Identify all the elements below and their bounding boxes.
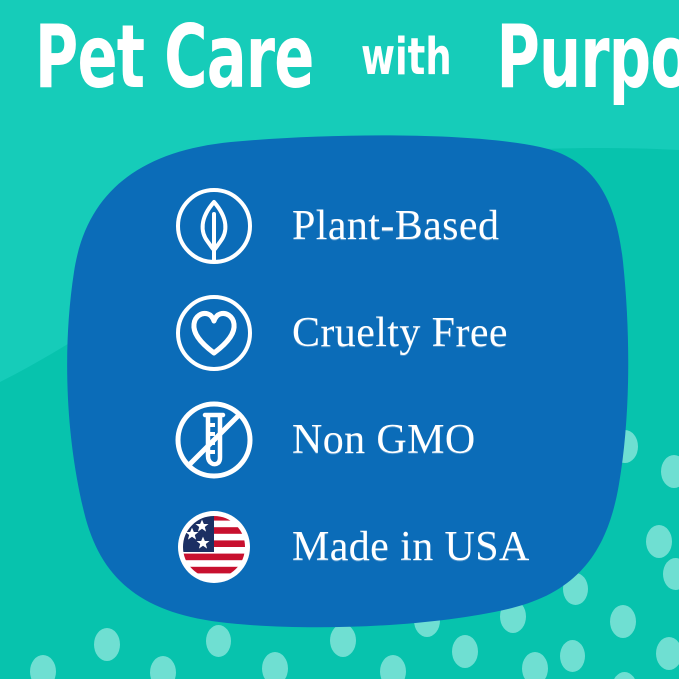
headline-part-two: with [359,31,453,81]
feature-label-non-gmo: Non GMO [292,416,476,464]
leaf-icon [168,180,260,272]
headline-part-one: Pet Care [35,14,314,101]
feature-item-non-gmo: Non GMO [168,386,598,493]
feature-item-cruelty-free: Cruelty Free [168,279,598,386]
promo-banner: Pet CarewithPurpose® Plant-Based [0,0,679,679]
headline-part-three: Purpose [496,14,679,101]
feature-item-plant-based: Plant-Based [168,172,598,279]
feature-label-plant-based: Plant-Based [292,202,499,250]
feature-list: Plant-Based Cruelty Free [168,172,598,600]
usa-flag-icon [168,501,260,593]
no-test-tube-icon [168,394,260,486]
feature-item-made-in-usa: Made in USA [168,493,598,600]
feature-label-cruelty-free: Cruelty Free [292,309,508,357]
heart-icon [168,287,260,379]
page-title: Pet CarewithPurpose® [0,14,679,88]
feature-label-made-in-usa: Made in USA [292,523,530,571]
